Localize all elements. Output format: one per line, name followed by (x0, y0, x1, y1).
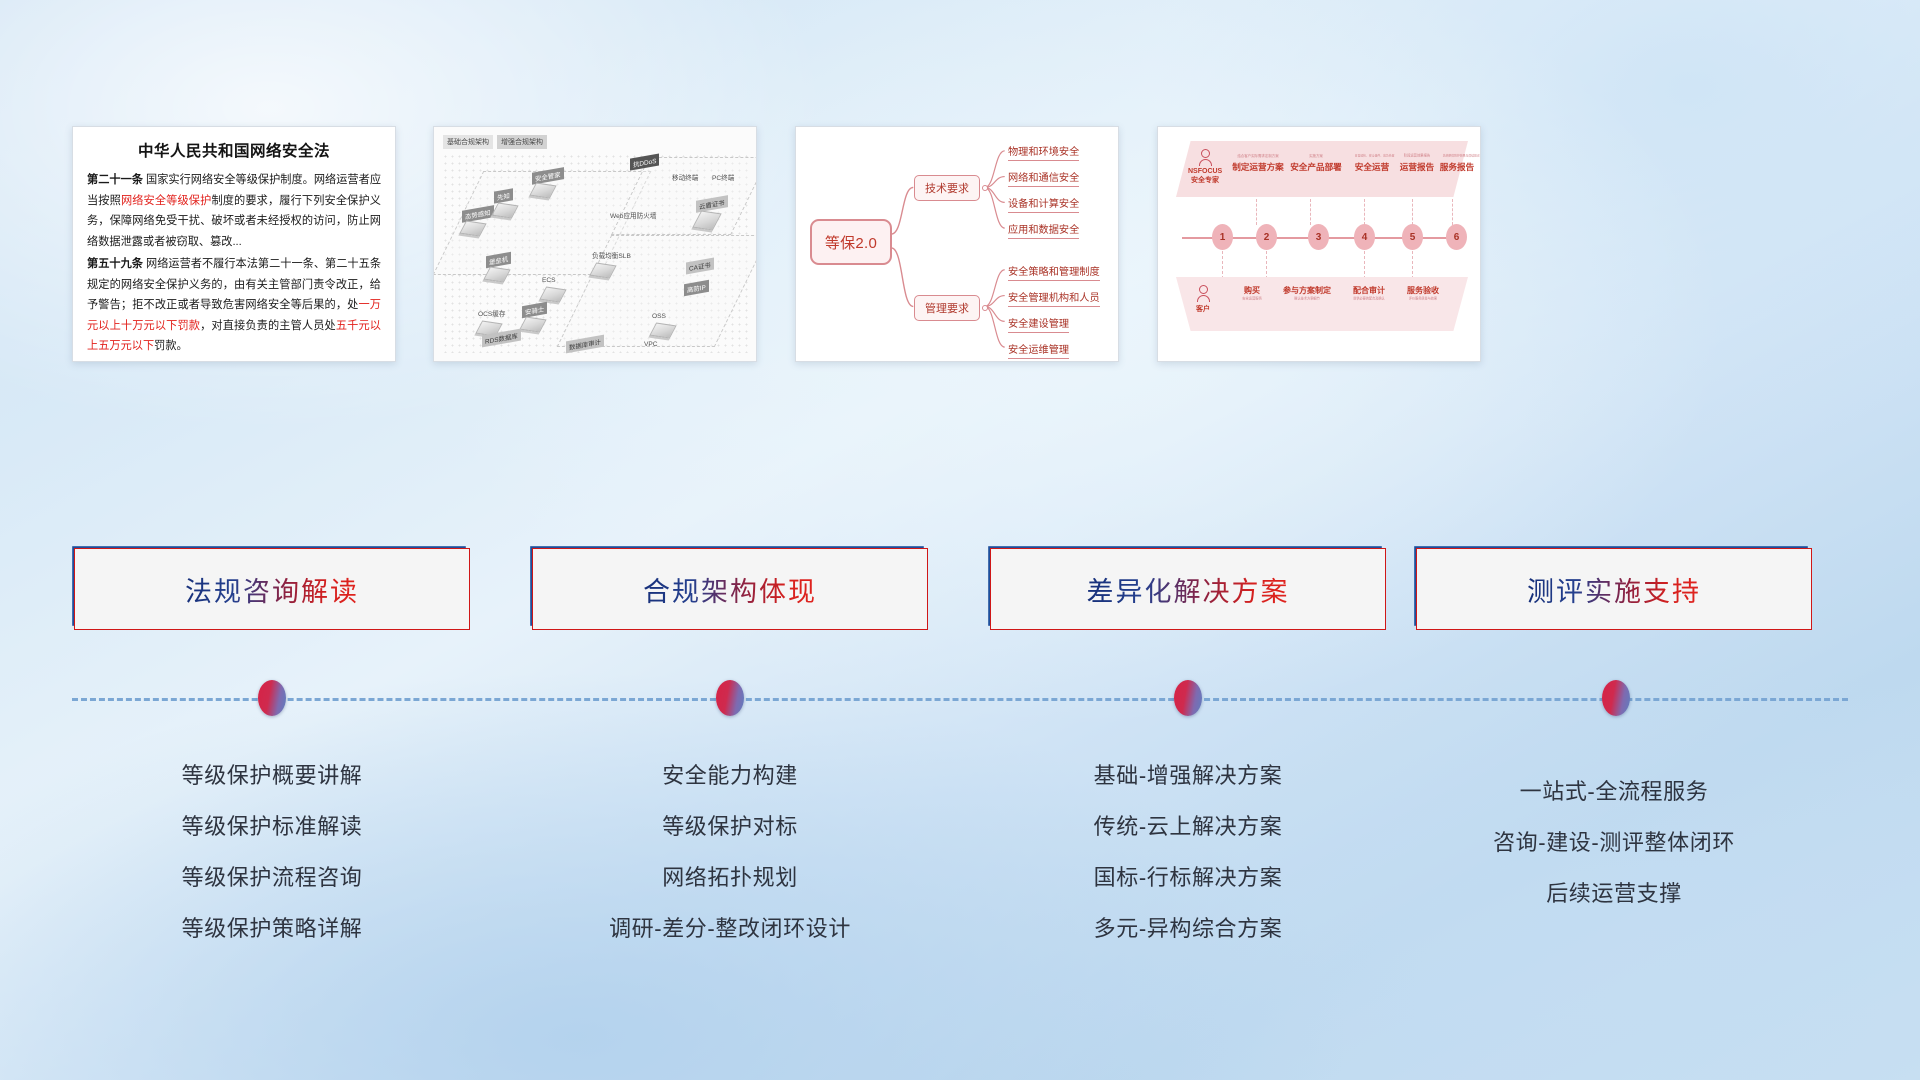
heading-label: 合规架构体现 (643, 570, 817, 609)
mindmap-hub-icon (982, 185, 988, 191)
timeline-connector (1222, 251, 1223, 279)
section-heading-row: 法规咨询解读 合规架构体现 差异化解决方案 测评实施支持 (0, 548, 1920, 630)
mindmap-card: 等保2.0 技术要求 物理和环境安全 网络和通信安全 设备和计算安全 应用和数据… (795, 126, 1119, 362)
cube-glyph (491, 202, 518, 218)
node-security-steward: 安全管家 (532, 165, 564, 197)
cube-glyph (692, 210, 721, 230)
article-59-text-2: ，对直接负责的主管人员处 (200, 320, 336, 332)
article-59-text-3: 罚款。 (154, 340, 188, 352)
customer-label: 客户 (1186, 304, 1220, 314)
node-xianzhi: 先知 (494, 185, 516, 217)
detail-list-regulation-consulting: 等级保护概要讲解 等级保护标准解读 等级保护流程咨询 等级保护策略详解 (74, 750, 470, 954)
mindmap-leaf: 网络和通信安全 (1008, 169, 1079, 187)
list-item: 多元-异构综合方案 (990, 903, 1386, 954)
cube-glyph (519, 316, 546, 332)
list-item: 调研-差分-整改闭环设计 (532, 903, 928, 954)
node-mobile-terminal: 移动终端 (672, 167, 698, 185)
mindmap-leaf: 安全建设管理 (1008, 315, 1069, 333)
list-item: 咨询-建设-测评整体闭环 (1416, 817, 1812, 868)
illustration-card-row: 中华人民共和国网络安全法 第二十一条 国家实行网络安全等级保护制度。网络运营者应… (0, 126, 1920, 362)
heading-label: 差异化解决方案 (1087, 570, 1290, 609)
section-heading-compliance-architecture[interactable]: 合规架构体现 (532, 548, 928, 630)
timeline-node-5: 5 (1402, 224, 1423, 250)
timeline-connector (1310, 199, 1311, 225)
cube-glyph (459, 220, 486, 236)
timeline-step-bottom-4: 服务验收 评价服务质量与效果 (1398, 285, 1448, 304)
article-59-label: 第五十九条 (87, 258, 143, 270)
step-sub: 阶段运营效果报告 (1399, 154, 1435, 158)
list-item: 等级保护流程咨询 (74, 852, 470, 903)
timeline-dot-3 (1174, 680, 1202, 716)
article-21-highlight: 网络安全等级保护 (121, 195, 212, 207)
timeline-connector (1364, 199, 1365, 225)
mindmap-branch-management: 管理要求 (914, 295, 980, 321)
node-ca-cert: CA证书 (686, 255, 714, 273)
step-sub: 安全运营服务 (1235, 297, 1270, 301)
node-situational-awareness: 态势感知 (462, 203, 494, 235)
timeline-node-1: 1 (1212, 224, 1233, 250)
timeline-connector (1266, 251, 1267, 279)
law-title: 中华人民共和国网络安全法 (87, 139, 381, 161)
mindmap-leaf: 安全管理机构和人员 (1008, 289, 1100, 307)
person-head-icon (1199, 285, 1208, 294)
mindmap-leaf: 物理和环境安全 (1008, 143, 1079, 161)
node-waf: Web应用防火墙 (610, 205, 656, 223)
timeline-canvas: NSFOCUS 安全专家 结合客户实际需求定制方案 制定运营方案 实施方案 安全… (1158, 127, 1480, 361)
node-db-audit: 数据库审计 (566, 333, 604, 351)
node-ecs: ECS (542, 269, 564, 301)
list-item: 国标-行标解决方案 (990, 852, 1386, 903)
article-21-label: 第二十一条 (87, 174, 143, 186)
person-body-icon (1199, 159, 1212, 166)
timeline-step-top-1: 结合客户实际需求定制方案 制定运营方案 (1230, 153, 1286, 173)
mindmap-leaf: 安全策略和管理制度 (1008, 263, 1100, 281)
expert-label-line2: 安全专家 (1188, 175, 1222, 185)
mindmap-branch-technical: 技术要求 (914, 175, 980, 201)
mindmap-hub-icon (982, 305, 988, 311)
node-anti-ddos: 抗DDoS (630, 151, 659, 169)
timeline-node-3: 3 (1308, 224, 1329, 250)
timeline-connector (1364, 251, 1365, 279)
mindmap-root-node: 等保2.0 (810, 219, 892, 265)
tab-basic-architecture[interactable]: 基础合规架构 (443, 135, 493, 149)
cube-glyph (589, 262, 616, 278)
mindmap-leaf: 安全运维管理 (1008, 341, 1069, 359)
list-item: 网络拓扑规划 (532, 852, 928, 903)
person-head-icon (1201, 149, 1210, 158)
service-timeline-card: NSFOCUS 安全专家 结合客户实际需求定制方案 制定运营方案 实施方案 安全… (1157, 126, 1481, 362)
section-heading-regulation-consulting[interactable]: 法规咨询解读 (74, 548, 470, 630)
node-slb: 负载均衡SLB (592, 245, 631, 277)
law-body: 中华人民共和国网络安全法 第二十一条 国家实行网络安全等级保护制度。网络运营者应… (73, 127, 395, 357)
timeline-connector (1412, 251, 1413, 279)
node-pc-terminal: PC终端 (712, 167, 734, 185)
heading-label: 测评实施支持 (1527, 570, 1701, 609)
detail-list-differentiated-solution: 基础-增强解决方案 传统-云上解决方案 国标-行标解决方案 多元-异构综合方案 (990, 750, 1386, 954)
expert-label-line1: NSFOCUS (1188, 168, 1222, 175)
node-bastion-host: 堡垒机 (486, 249, 511, 281)
timeline-connector (1412, 199, 1413, 225)
node-cloud-cert: 云盾证书 (696, 193, 728, 229)
person-body-icon (1197, 295, 1210, 302)
mindmap-leaf: 应用和数据安全 (1008, 221, 1079, 239)
law-article-21: 第二十一条 国家实行网络安全等级保护制度。网络运营者应当按照网络安全等级保护制度… (87, 170, 381, 252)
list-item: 一站式-全流程服务 (1416, 766, 1812, 817)
nsfocus-expert-avatar: NSFOCUS 安全专家 (1188, 149, 1222, 185)
step-main: 服务报告 (1434, 161, 1480, 173)
timeline-dot-4 (1602, 680, 1630, 716)
step-sub: 确认技术方案细节 (1285, 297, 1328, 301)
timeline-node-4: 4 (1354, 224, 1375, 250)
customer-avatar: 客户 (1186, 285, 1220, 314)
step-main: 制定运营方案 (1230, 161, 1286, 173)
detail-list-compliance-architecture: 安全能力构建 等级保护对标 网络拓扑规划 调研-差分-整改闭环设计 (532, 750, 928, 954)
tab-enhanced-architecture[interactable]: 增强合规架构 (497, 135, 547, 149)
step-sub: 评价服务质量与效果 (1406, 297, 1440, 301)
section-heading-differentiated-solution[interactable]: 差异化解决方案 (990, 548, 1386, 630)
timeline-step-bottom-1: 购买 安全运营服务 (1228, 285, 1276, 304)
timeline-step-top-2: 实施方案 安全产品部署 (1288, 153, 1344, 173)
node-rds: RDS数据库 (482, 327, 521, 345)
timeline-step-bottom-2: 参与方案制定 确认技术方案细节 (1276, 285, 1338, 304)
timeline-step-top-5: 总结整体防护效果与后续建议 服务报告 (1434, 153, 1480, 173)
list-item: 基础-增强解决方案 (990, 750, 1386, 801)
heading-label: 法规咨询解读 (185, 570, 359, 609)
architecture-canvas: 基础合规架构 增强合规架构 态势感知 先知 安全管家 (434, 127, 756, 361)
timeline-connector (1256, 199, 1257, 225)
cube-glyph (529, 182, 556, 198)
timeline-step-bottom-3: 配合审计 提供必要的配合及确认 (1344, 285, 1394, 304)
timeline-connector (1452, 199, 1453, 225)
node-anti-ddos-ip: 高防IP (684, 277, 709, 295)
list-item: 等级保护策略详解 (74, 903, 470, 954)
mindmap-canvas: 等保2.0 技术要求 物理和环境安全 网络和通信安全 设备和计算安全 应用和数据… (796, 127, 1118, 361)
timeline-node-2: 2 (1256, 224, 1277, 250)
timeline-dot-2 (716, 680, 744, 716)
section-heading-assessment-support[interactable]: 测评实施支持 (1416, 548, 1812, 630)
list-item: 等级保护标准解读 (74, 801, 470, 852)
timeline-node-6: 6 (1446, 224, 1467, 250)
node-anqishi: 安骑士 (522, 299, 547, 331)
step-sub: 总结整体防护效果与后续建议 (1443, 154, 1472, 158)
step-main: 配合审计 (1344, 285, 1394, 296)
step-sub: 提供必要的配合及确认 (1352, 297, 1386, 301)
detail-list-assessment-support: 一站式-全流程服务 咨询-建设-测评整体闭环 后续运营支撑 (1416, 766, 1812, 919)
list-item: 等级保护概要讲解 (74, 750, 470, 801)
list-item: 传统-云上解决方案 (990, 801, 1386, 852)
step-main: 服务验收 (1398, 285, 1448, 296)
cube-glyph (483, 266, 510, 282)
list-item: 后续运营支撑 (1416, 868, 1812, 919)
step-main: 安全产品部署 (1288, 161, 1344, 173)
architecture-diagram-card: 基础合规架构 增强合规架构 态势感知 先知 安全管家 (433, 126, 757, 362)
list-item: 等级保护对标 (532, 801, 928, 852)
law-text-card: 中华人民共和国网络安全法 第二十一条 国家实行网络安全等级保护制度。网络运营者应… (72, 126, 396, 362)
timeline-rail (72, 698, 1848, 701)
law-article-59: 第五十九条 网络运营者不履行本法第二十一条、第二十五条规定的网络安全保护义务的，… (87, 254, 381, 357)
poster-canvas: 中华人民共和国网络安全法 第二十一条 国家实行网络安全等级保护制度。网络运营者应… (0, 0, 1920, 1080)
architecture-tab-group: 基础合规架构 增强合规架构 (443, 135, 547, 149)
step-main: 购买 (1228, 285, 1276, 296)
mindmap-leaf: 设备和计算安全 (1008, 195, 1079, 213)
list-item: 安全能力构建 (532, 750, 928, 801)
step-sub: 结合客户实际需求定制方案 (1237, 154, 1279, 159)
node-vpc: VPC (644, 333, 658, 351)
timeline-dot-1 (258, 680, 286, 716)
step-sub: 日常巡检、安全事件、应急处置 (1355, 154, 1390, 158)
step-main: 参与方案制定 (1276, 285, 1338, 296)
step-sub: 实施方案 (1295, 154, 1337, 159)
